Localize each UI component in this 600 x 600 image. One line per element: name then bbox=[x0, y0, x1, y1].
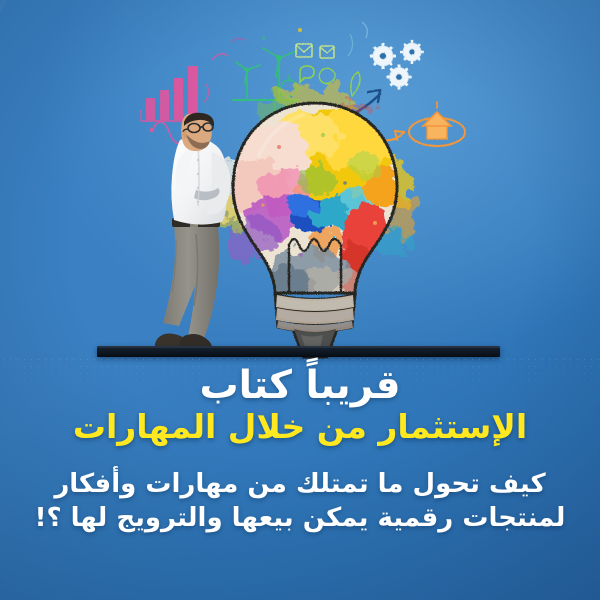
subheadline-line-1: كيف تحول ما تمتلك من مهارات وأفكار bbox=[0, 467, 600, 501]
gear-cluster-doodle bbox=[370, 40, 424, 90]
text-block: قريباً كتاب الإستثمار من خلال المهارات ك… bbox=[0, 365, 600, 536]
headline-title: الإستثمار من خلال المهارات bbox=[0, 409, 600, 446]
subheadline-line-2: لمنتجات رقمية يمكن بيعها والترويج لها ؟! bbox=[0, 501, 600, 535]
trousers bbox=[163, 221, 219, 338]
poster-canvas: قريباً كتاب الإستثمار من خلال المهارات ك… bbox=[0, 0, 600, 600]
subheadline-group: كيف تحول ما تمتلك من مهارات وأفكار لمنتج… bbox=[0, 467, 600, 536]
platform-bar bbox=[97, 346, 500, 357]
headline-kicker: قريباً كتاب bbox=[0, 365, 600, 407]
envelope-doodle bbox=[296, 44, 334, 58]
thinking-businessman bbox=[140, 112, 250, 354]
chat-doodle bbox=[300, 66, 335, 84]
